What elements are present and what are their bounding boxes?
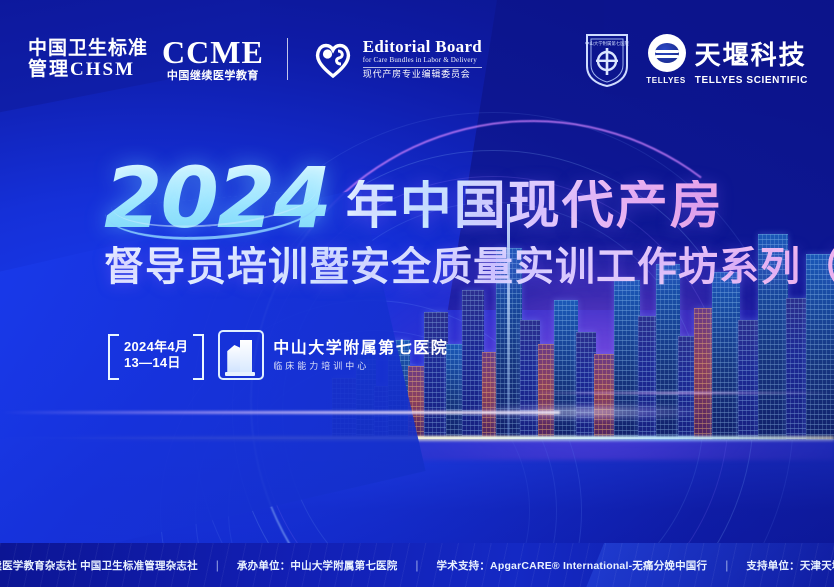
event-date-line2: 13—14日 — [124, 355, 188, 371]
sponsor-logos-left: 中国卫生标准 管理CHSM CCME 中国继续医学教育 Editorial Bo — [28, 36, 482, 82]
event-date-line1: 2024年4月 — [124, 339, 188, 355]
event-meta: 2024年4月 13—14日 中山大学附属第七医院 临床能力培训中心 — [108, 330, 448, 380]
hospital-building-icon — [218, 330, 264, 380]
chsm-line2: 管理CHSM — [28, 59, 148, 80]
footer-separator-3: | — [725, 558, 728, 572]
chsm-logo: 中国卫生标准 管理CHSM — [28, 38, 148, 81]
ccme-subtitle: 中国继续医学教育 — [162, 71, 264, 82]
tellyes-mark-label: TELLYES — [646, 76, 685, 85]
main-title-block: 2024 年中国现代产房 督导员培训暨安全质量实训工作坊系列（第一期） — [104, 162, 834, 289]
university-crest-icon: 中山大学附属第七医院 — [584, 32, 630, 88]
hospital-text: 中山大学附属第七医院 临床能力培训中心 — [273, 339, 448, 372]
title-line1-tail: 年中国现代产房 — [346, 180, 724, 236]
footer-bar: 主办单位：中国继续医学教育杂志社 中国卫生标准管理杂志社 | 承办单位：中山大学… — [0, 543, 834, 587]
tellyes-english-name: TELLYES SCIENTIFIC — [695, 75, 808, 86]
logo-divider — [287, 38, 288, 80]
light-flare-highlight — [470, 404, 700, 420]
hospital-name: 中山大学附属第七医院 — [273, 339, 448, 358]
chsm-line1: 中国卫生标准 — [28, 38, 148, 59]
footer-separator-2: | — [415, 558, 418, 572]
ccme-logo: CCME 中国继续医学教育 — [162, 36, 264, 82]
ccme-acronym: CCME — [162, 36, 264, 68]
footer-sponsor: 支持单位：天津天堰科技股份有限公司 — [746, 558, 834, 573]
hospital-subtitle: 临床能力培训中心 — [273, 361, 448, 372]
header-logo-bar: 中国卫生标准 管理CHSM CCME 中国继续医学教育 Editorial Bo — [0, 0, 834, 112]
editorial-board-text: Editorial Board for Care Bundles in Labo… — [363, 38, 482, 80]
editorial-board-logo: Editorial Board for Care Bundles in Labo… — [311, 37, 482, 81]
footer-organizer: 主办单位：中国继续医学教育杂志社 中国卫生标准管理杂志社 — [0, 558, 198, 573]
tellyes-english-row: TELLYES TELLYES SCIENTIFIC — [646, 75, 808, 86]
tellyes-logo-row: 天堰科技 — [648, 34, 807, 72]
tellyes-chinese-name: 天堰科技 — [695, 35, 807, 72]
conference-poster: 中国卫生标准 管理CHSM CCME 中国继续医学教育 Editorial Bo — [0, 0, 834, 587]
editorial-board-line1: Editorial Board — [363, 38, 482, 57]
tellyes-logo: 天堰科技 TELLYES TELLYES SCIENTIFIC — [646, 34, 808, 86]
footer-academic-support: 学术支持：ApgarCARE® International-无痛分娩中国行 — [437, 558, 708, 573]
heart-icon — [311, 37, 355, 81]
editorial-board-line3: 现代产房专业编辑委员会 — [363, 67, 482, 80]
sponsor-logos-right: 中山大学附属第七医院 天堰科技 TELLYES TELLYES SCIENTIF… — [584, 32, 808, 88]
tellyes-mark-icon — [648, 34, 686, 72]
light-flare-top-streak — [520, 392, 834, 394]
host-hospital-logo: 中山大学附属第七医院 临床能力培训中心 — [218, 330, 448, 380]
title-row-1: 2024 年中国现代产房 — [104, 162, 834, 236]
title-line2: 督导员培训暨安全质量实训工作坊系列（第一期） — [104, 246, 834, 289]
footer-separator-1: | — [216, 558, 219, 572]
footer-host: 承办单位：中山大学附属第七医院 — [237, 558, 398, 573]
footer-credits: 主办单位：中国继续医学教育杂志社 中国卫生标准管理杂志社 | 承办单位：中山大学… — [0, 558, 834, 573]
svg-text:中山大学附属第七医院: 中山大学附属第七医院 — [585, 40, 630, 47]
editorial-board-line2: for Care Bundles in Labor & Delivery — [363, 57, 482, 65]
event-date-badge: 2024年4月 13—14日 — [108, 334, 204, 377]
